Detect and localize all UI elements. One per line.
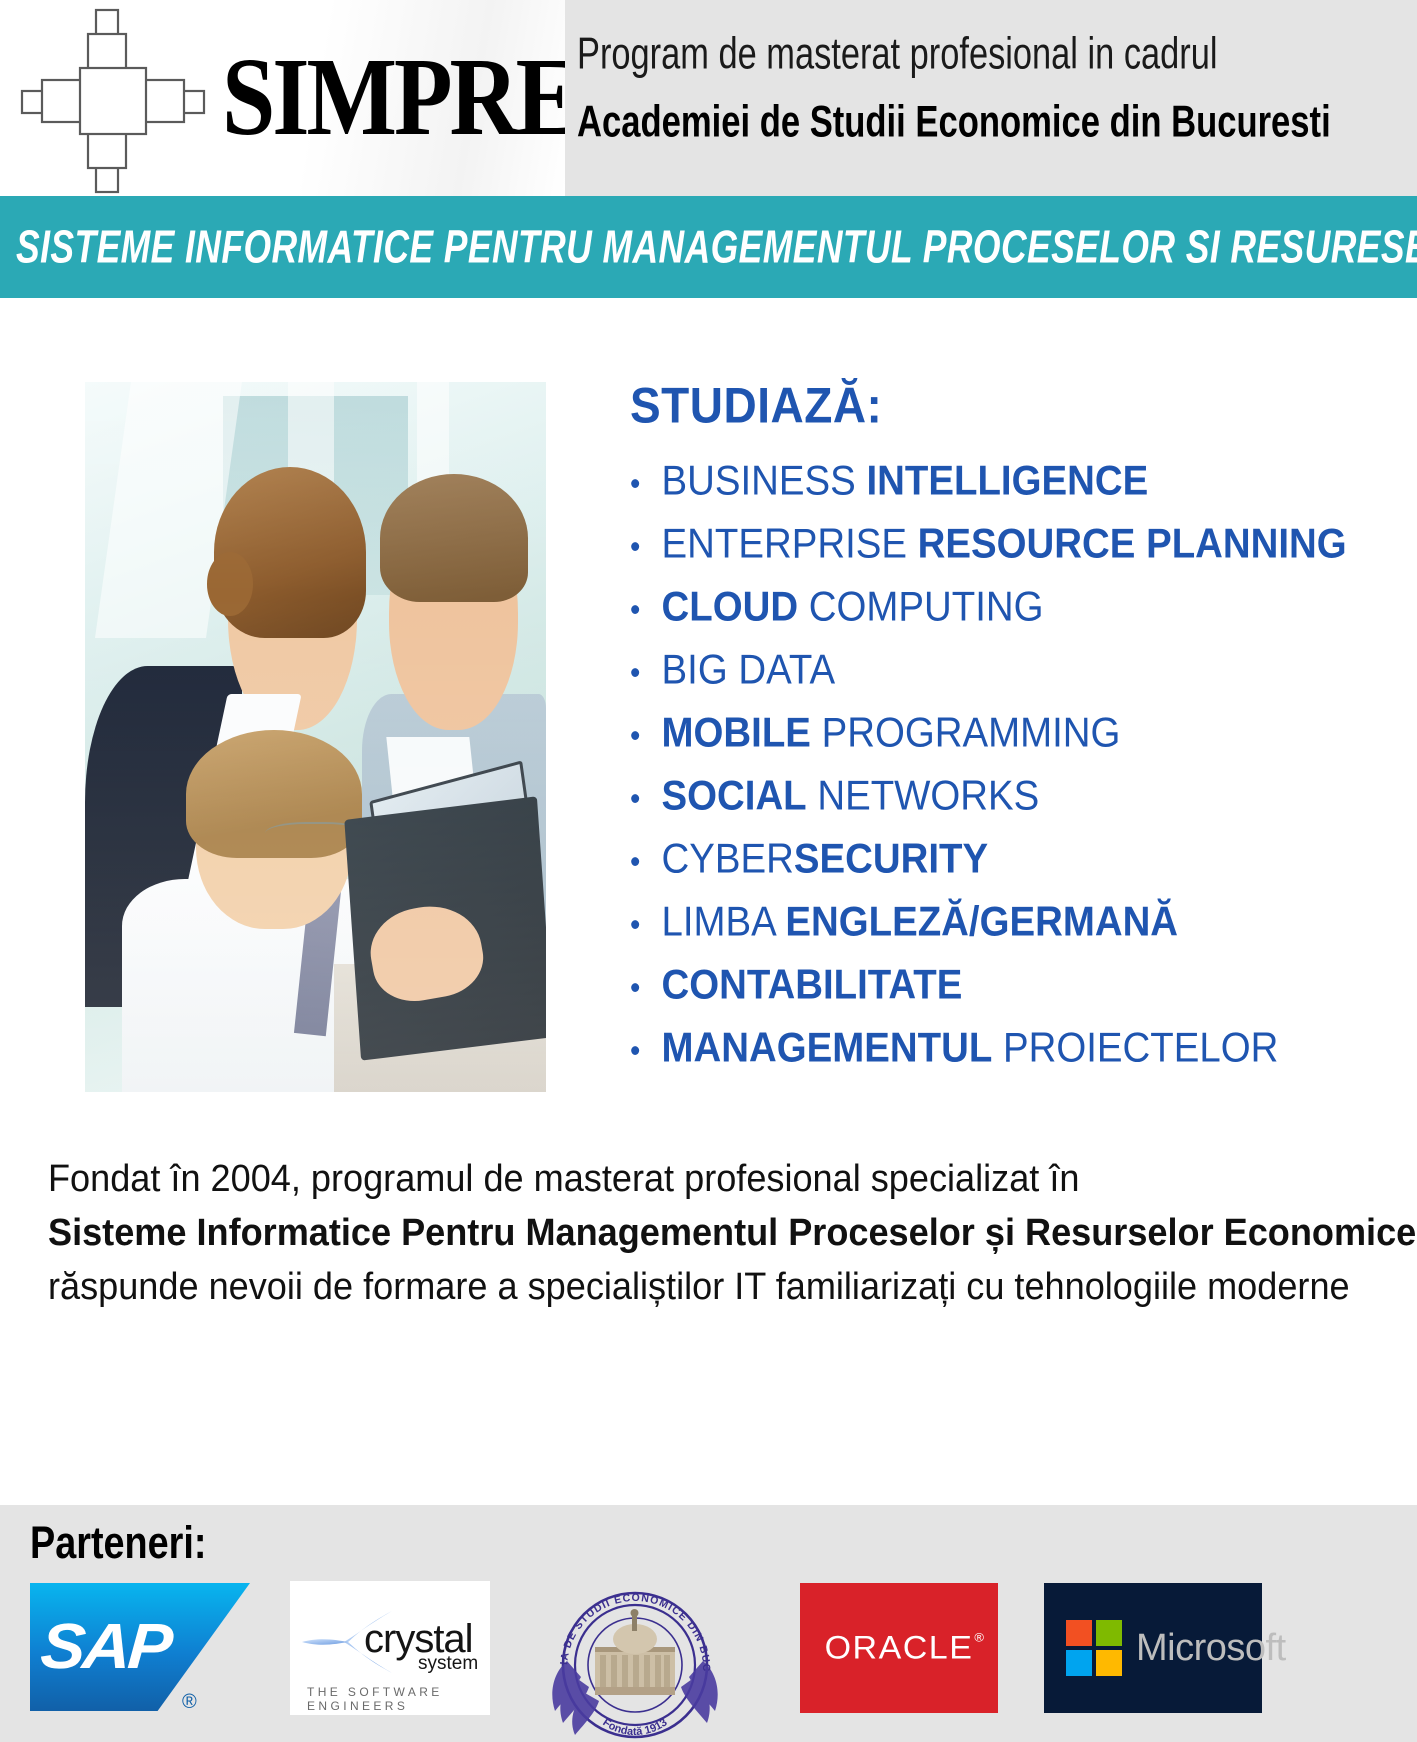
simpre-cross-logo-icon bbox=[18, 6, 208, 196]
oracle-registered-icon: ® bbox=[974, 1629, 985, 1643]
program-banner: SISTEME INFORMATICE PENTRU MANAGEMENTUL … bbox=[0, 196, 1417, 298]
bullet-icon: • bbox=[630, 469, 662, 501]
description-line-2: Sisteme Informatice Pentru Managementul … bbox=[48, 1207, 1312, 1261]
crystal-tagline: THE SOFTWARE ENGINEERS bbox=[307, 1685, 490, 1713]
oracle-logo[interactable]: ORACLE ® bbox=[800, 1583, 998, 1713]
description-line-3: răspunde nevoii de formare a specialiști… bbox=[48, 1261, 1312, 1315]
study-list: • BUSINESS INTELLIGENCE • ENTERPRISE RES… bbox=[630, 460, 1410, 1066]
list-item: • CONTABILITATE bbox=[630, 964, 1398, 1006]
team-photo bbox=[85, 382, 546, 1092]
partner-logos: SAP ® crystal system THE SOFTW bbox=[0, 1581, 1417, 1741]
bullet-icon: • bbox=[630, 1036, 662, 1068]
list-item: • ENTERPRISE RESOURCE PLANNING bbox=[630, 523, 1398, 565]
list-item: • MANAGEMENTUL PROIECTELOR bbox=[630, 1027, 1398, 1069]
crystal-subword: system bbox=[418, 1653, 478, 1675]
bullet-icon: • bbox=[630, 658, 662, 690]
photo-overlay bbox=[85, 382, 546, 1092]
crystal-system-logo[interactable]: crystal system THE SOFTWARE ENGINEERS bbox=[290, 1581, 490, 1715]
list-item: • BUSINESS INTELLIGENCE bbox=[630, 460, 1398, 502]
list-item: • LIMBA ENGLEZĂ/GERMANĂ bbox=[630, 901, 1398, 943]
list-item-label: CONTABILITATE bbox=[662, 964, 963, 1006]
microsoft-logo[interactable]: Microsoft bbox=[1044, 1583, 1262, 1713]
sap-wordmark: SAP bbox=[38, 1609, 172, 1683]
bullet-icon: • bbox=[630, 532, 662, 564]
microsoft-tile-blue bbox=[1066, 1650, 1092, 1676]
list-item-label: BIG DATA bbox=[662, 649, 836, 691]
bullet-icon: • bbox=[630, 973, 662, 1005]
microsoft-wordmark: Microsoft bbox=[1136, 1627, 1286, 1670]
partners-footer: Parteneri: SAP ® bbox=[0, 1505, 1417, 1742]
list-item: • SOCIAL NETWORKS bbox=[630, 775, 1398, 817]
list-item-label: SOCIAL NETWORKS bbox=[662, 775, 1040, 817]
list-item-label: MOBILE PROGRAMMING bbox=[662, 712, 1121, 754]
bullet-icon: • bbox=[630, 721, 662, 753]
poster-header: SIMPRE Program de masterat profesional i… bbox=[0, 0, 1417, 196]
list-item-label: CYBERSECURITY bbox=[662, 838, 989, 880]
poster-main: STUDIAZĂ: • BUSINESS INTELLIGENCE • ENTE… bbox=[0, 298, 1417, 1505]
partners-title: Parteneri: bbox=[30, 1517, 206, 1569]
description-line-1: Fondat în 2004, programul de masterat pr… bbox=[48, 1153, 1312, 1207]
program-subtitle: Program de masterat profesional in cadru… bbox=[577, 28, 1291, 80]
list-item: • CYBERSECURITY bbox=[630, 838, 1398, 880]
list-item-label: ENTERPRISE RESOURCE PLANNING bbox=[662, 523, 1347, 565]
header-title-panel: Program de masterat profesional in cadru… bbox=[565, 0, 1417, 196]
list-item: • BIG DATA bbox=[630, 649, 1398, 691]
brand-wordmark: SIMPRE bbox=[222, 42, 577, 153]
list-item-label: MANAGEMENTUL PROIECTELOR bbox=[662, 1027, 1279, 1069]
bullet-icon: • bbox=[630, 847, 662, 879]
study-heading: STUDIAZĂ: bbox=[630, 376, 1410, 434]
sap-logo[interactable]: SAP bbox=[30, 1583, 250, 1711]
bullet-icon: • bbox=[630, 910, 662, 942]
list-item-label: LIMBA ENGLEZĂ/GERMANĂ bbox=[662, 901, 1179, 943]
institution-name: Academiei de Studii Economice din Bucure… bbox=[577, 96, 1295, 148]
study-section: STUDIAZĂ: • BUSINESS INTELLIGENCE • ENTE… bbox=[630, 376, 1410, 1090]
ase-seal-icon: ACADEMIA DE STUDII ECONOMICE DIN BUCURES… bbox=[545, 1577, 725, 1742]
list-item-label: BUSINESS INTELLIGENCE bbox=[662, 460, 1149, 502]
oracle-wordmark: ORACLE ® bbox=[825, 1629, 974, 1666]
list-item-label: CLOUD COMPUTING bbox=[662, 586, 1044, 628]
microsoft-tile-green bbox=[1096, 1620, 1122, 1646]
program-banner-text: SISTEME INFORMATICE PENTRU MANAGEMENTUL … bbox=[16, 221, 1417, 274]
microsoft-squares-icon bbox=[1066, 1620, 1122, 1676]
bullet-icon: • bbox=[630, 595, 662, 627]
microsoft-tile-yellow bbox=[1096, 1650, 1122, 1676]
poster-root: SIMPRE Program de masterat profesional i… bbox=[0, 0, 1417, 1742]
bullet-icon: • bbox=[630, 784, 662, 816]
description-paragraph: Fondat în 2004, programul de masterat pr… bbox=[48, 1153, 1378, 1315]
ase-founded-text: Fondată 1913 bbox=[600, 1717, 669, 1739]
ase-seal-logo[interactable]: ACADEMIA DE STUDII ECONOMICE DIN BUCURES… bbox=[545, 1577, 725, 1742]
list-item: • MOBILE PROGRAMMING bbox=[630, 712, 1398, 754]
microsoft-tile-orange bbox=[1066, 1620, 1092, 1646]
sap-registered-icon: ® bbox=[182, 1691, 197, 1714]
header-brand-panel: SIMPRE bbox=[0, 0, 565, 196]
list-item: • CLOUD COMPUTING bbox=[630, 586, 1398, 628]
